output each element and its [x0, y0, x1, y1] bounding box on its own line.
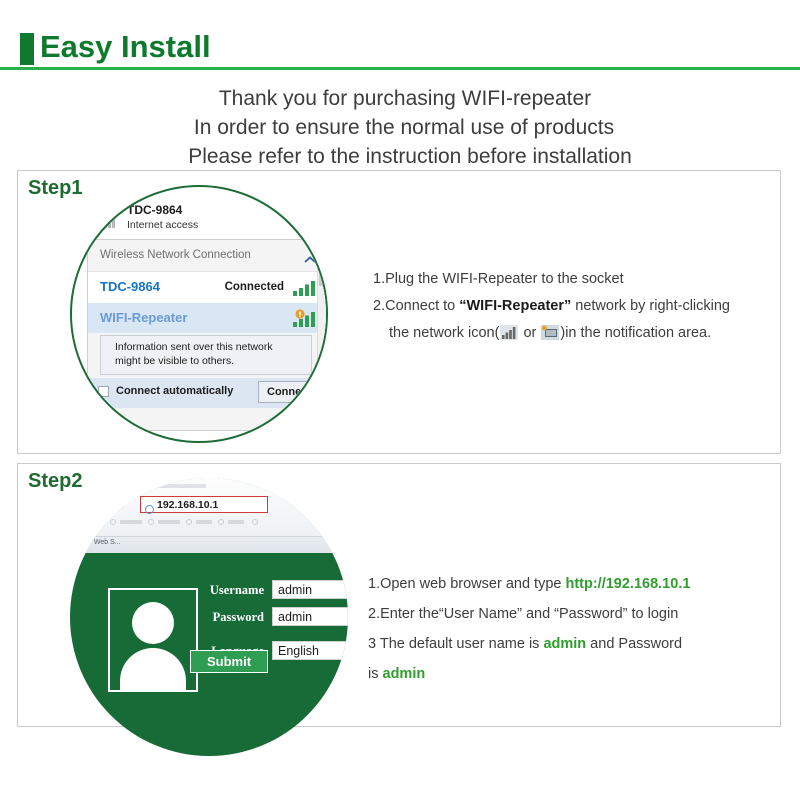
wifi-signal-icon [98, 211, 118, 229]
default-username: admin [543, 636, 586, 652]
router-url: http://192.168.10.1 [565, 576, 690, 592]
username-input[interactable]: admin [272, 580, 348, 599]
wireless-network-flyout: Wireless Network Connection TDC-9864 Con… [87, 239, 328, 431]
connect-automatically-row: Connect automatically Connect [88, 378, 328, 408]
page-icon [116, 500, 125, 509]
browser-button-row [110, 518, 290, 526]
step1-panel: Step1 TDC-9864 Internet access Wireless … [17, 170, 781, 454]
header-divider [0, 67, 800, 70]
password-input[interactable]: admin [272, 607, 348, 626]
instruction-text: )in the notification area. [560, 325, 711, 341]
browser-chrome: 192.168.10.1 eater Web S... [70, 478, 348, 552]
address-bar-value: 192.168.10.1 [157, 499, 218, 511]
toolbar-bar [196, 520, 212, 524]
connected-ssid-subtitle: Internet access [127, 219, 198, 231]
instruction-text: is [368, 666, 383, 682]
connect-automatically-checkbox[interactable] [98, 386, 109, 397]
signal-bars-icon [500, 323, 518, 350]
globe-icon [145, 501, 154, 519]
address-bar[interactable]: 192.168.10.1 [140, 496, 268, 513]
step2-instruction-1: 1.Open web browser and type http://192.1… [368, 569, 788, 599]
step2-instructions: 1.Open web browser and type http://192.1… [368, 569, 788, 689]
toolbar-dot [148, 519, 154, 525]
toolbar-dot [186, 519, 192, 525]
signal-bars-icon [292, 280, 318, 301]
connect-button[interactable]: Connect [258, 381, 320, 403]
toolbar-dot [252, 519, 258, 525]
header-accent-block [20, 33, 34, 65]
wireless-network-connection-label: Wireless Network Connection [100, 249, 251, 261]
password-field-row: Password admin [200, 607, 348, 629]
signal-bars-warning-icon [292, 309, 318, 332]
page-header: Easy Install [0, 0, 800, 70]
intro-text: Thank you for purchasing WIFI-repeater I… [0, 84, 800, 171]
connect-button-label: Connect [259, 386, 319, 398]
instruction-text: 3 The default user name is [368, 636, 543, 652]
avatar-body [120, 648, 186, 692]
browser-tab-label: eater Web S... [76, 539, 121, 546]
note-line-2: might be visible to others. [115, 355, 234, 367]
username-field-row: Username admin [200, 580, 348, 602]
step1-instruction-1: 1.Plug the WIFI-Repeater to the socket [373, 266, 773, 293]
step2-instruction-2: 2.Enter the“User Name” and “Password” to… [368, 599, 788, 629]
toolbar-bar [120, 520, 142, 524]
step2-instruction-4: is admin [368, 659, 788, 689]
submit-button[interactable]: Submit [190, 650, 268, 673]
connect-automatically-label: Connect automatically [116, 385, 233, 397]
submit-button-label: Submit [191, 654, 267, 669]
network-name: TDC-9864 [100, 279, 160, 294]
username-value: admin [278, 583, 312, 597]
language-select[interactable]: English [272, 641, 348, 660]
network-name-emphasis: “WIFI-Repeater” [459, 298, 571, 314]
instruction-text: or [519, 325, 540, 341]
avatar-head [132, 602, 174, 644]
instruction-text: and Password [586, 636, 682, 652]
password-label: Password [200, 610, 264, 625]
network-list-item-wifi-repeater[interactable]: WIFI-Repeater [88, 303, 328, 333]
toolbar-dot [110, 519, 116, 525]
step1-instruction-3: the network icon( or )in the notificatio… [373, 320, 773, 350]
password-value: admin [278, 610, 312, 624]
chevron-up-icon[interactable] [304, 251, 316, 269]
network-list-item-tdc[interactable]: TDC-9864 Connected [88, 272, 328, 303]
step2-instruction-3: 3 The default user name is admin and Pas… [368, 629, 788, 659]
avatar [108, 588, 198, 692]
note-line-1: Information sent over this network [115, 341, 273, 353]
browser-title-placeholder [148, 484, 206, 488]
page-title: Easy Install [40, 28, 211, 66]
network-security-note: Information sent over this network might… [100, 335, 312, 375]
wireless-network-connection-header[interactable]: Wireless Network Connection [88, 240, 328, 272]
step2-illustration-circle: 192.168.10.1 eater Web S... [70, 478, 348, 756]
language-value: English [278, 644, 319, 658]
step1-illustration-circle: TDC-9864 Internet access Wireless Networ… [70, 185, 328, 443]
browser-tab-bar[interactable]: eater Web S... [70, 536, 348, 553]
step1-label: Step1 [28, 177, 82, 200]
network-monitor-icon [541, 323, 559, 350]
step1-instructions: 1.Plug the WIFI-Repeater to the socket 2… [373, 266, 773, 350]
intro-line-3: Please refer to the instruction before i… [0, 142, 800, 171]
toolbar-bar [158, 520, 180, 524]
toolbar-bar [228, 520, 244, 524]
default-password: admin [383, 666, 426, 682]
instruction-text: 2.Connect to [373, 298, 459, 314]
instruction-text: network by right-clicking [571, 298, 730, 314]
network-name: WIFI-Repeater [100, 310, 187, 325]
step1-instruction-2: 2.Connect to “WIFI-Repeater” network by … [373, 293, 773, 320]
flyout-scrollbar[interactable] [317, 240, 328, 376]
network-status: Connected [225, 281, 284, 293]
connected-ssid-title: TDC-9864 [127, 203, 182, 217]
instruction-text: 1.Open web browser and type [368, 576, 565, 592]
scrollbar-thumb[interactable] [319, 242, 328, 286]
toolbar-dot [218, 519, 224, 525]
instruction-text: the network icon( [389, 325, 499, 341]
username-label: Username [200, 583, 264, 598]
step2-panel: Step2 192.168.10.1 [17, 463, 781, 727]
intro-line-1: Thank you for purchasing WIFI-repeater [0, 84, 800, 113]
intro-line-2: In order to ensure the normal use of pro… [0, 113, 800, 142]
